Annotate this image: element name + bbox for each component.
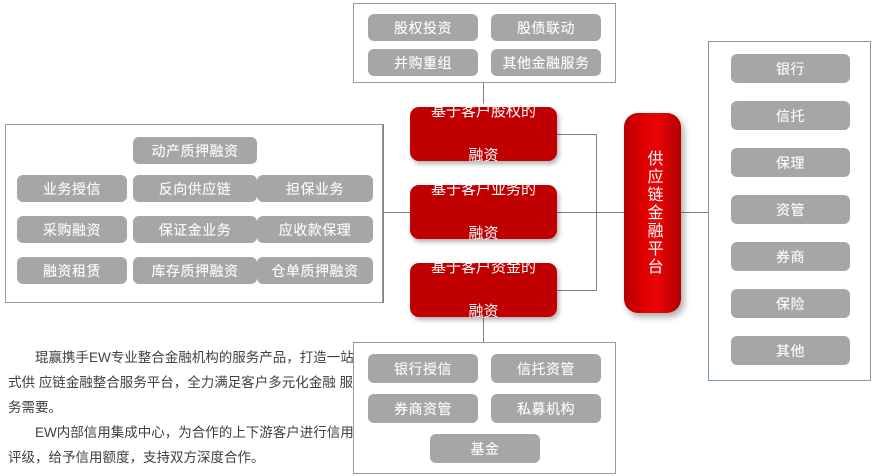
chip-label: 仓单质押融资 [272,261,359,281]
chip-label: 银行 [776,59,805,79]
chip-receivables-factoring[interactable]: 应收款保理 [257,216,373,243]
notes-block: 琨赢携手EW专业整合金融机构的服务产品，打造一站式供 应链金融整合服务平台，全力… [8,345,356,470]
redbox-line2: 融资 [418,145,549,167]
top-panel: 股权投资 股债联动 并购重组 其他金融服务 [353,3,616,83]
redbox-line2: 融资 [418,223,549,245]
connector-left-to-redbox2 [383,212,410,213]
chip-private-equity-institutions[interactable]: 私募机构 [491,394,601,423]
connector-redbox3-right [557,290,596,291]
chip-label: 反向供应链 [159,179,232,199]
chip-procurement-financing[interactable]: 采购融资 [17,216,127,243]
chip-label: 其他金融服务 [503,53,590,73]
chip-label: 业务授信 [43,179,101,199]
left-panel: 动产质押融资 业务授信 反向供应链 担保业务 采购融资 保证金业务 应收款保理 … [5,124,383,303]
redbox-text: 基于客户业务的 融资 [410,179,557,245]
chip-bank-credit[interactable]: 银行授信 [368,354,478,383]
chip-warehouse-receipt-pledge-financing[interactable]: 仓单质押融资 [257,257,373,284]
connector-platform-to-right-panel [681,212,708,213]
chip-reverse-supply-chain[interactable]: 反向供应链 [133,175,257,202]
chip-equity-investment[interactable]: 股权投资 [368,14,478,41]
chip-label: 保证金业务 [159,220,232,240]
redbox-text: 基于客户股权的 融资 [410,101,557,167]
right-panel: 银行 信托 保理 资管 券商 保险 其他 [708,41,871,381]
chip-bank[interactable]: 银行 [731,54,850,83]
chip-guarantee-business[interactable]: 担保业务 [257,175,373,202]
chip-securities-asset-management[interactable]: 券商资管 [368,394,478,423]
chip-label: 担保业务 [286,179,344,199]
chip-asset-management[interactable]: 资管 [731,195,850,224]
chip-securities-firm[interactable]: 券商 [731,242,850,271]
chip-label: 动产质押融资 [152,141,239,161]
diagram-canvas: 股权投资 股债联动 并购重组 其他金融服务 动产质押融资 业务授信 反向供应链 … [0,0,879,476]
chip-label: 信托 [776,106,805,126]
redbox-capital-based-financing[interactable]: 基于客户资金的 融资 [410,263,557,317]
supply-chain-finance-platform[interactable]: 供应链金融平台 [624,113,681,313]
chip-label: 基金 [471,439,500,459]
chip-label: 其他 [776,341,805,361]
chip-other-institutions[interactable]: 其他 [731,336,850,365]
redbox-line2: 融资 [418,301,549,323]
chip-label: 融资租赁 [43,261,101,281]
connector-redbox2-right [557,212,596,213]
connector-bus-to-platform [596,212,624,213]
redbox-equity-based-financing[interactable]: 基于客户股权的 融资 [410,107,557,161]
chip-trust[interactable]: 信托 [731,101,850,130]
chip-equity-debt-linkage[interactable]: 股债联动 [491,14,601,41]
chip-margin-business[interactable]: 保证金业务 [133,216,257,243]
chip-finance-leasing[interactable]: 融资租赁 [17,257,127,284]
chip-label: 保险 [776,294,805,314]
redbox-business-based-financing[interactable]: 基于客户业务的 融资 [410,185,557,239]
connector-left-panel-vertical [383,124,384,303]
chip-label: 股债联动 [517,18,575,38]
bottom-panel: 银行授信 信托资管 券商资管 私募机构 基金 [353,342,616,474]
chip-label: 库存质押融资 [152,261,239,281]
platform-label: 供应链金融平台 [641,150,665,276]
chip-business-credit[interactable]: 业务授信 [17,175,127,202]
chip-label: 券商 [776,247,805,267]
redbox-line1: 基于客户股权的 [418,101,549,123]
chip-label: 私募机构 [517,399,575,419]
note-paragraph-1: 琨赢携手EW专业整合金融机构的服务产品，打造一站式供 应链金融整合服务平台，全力… [8,345,356,420]
chip-label: 信托资管 [517,359,575,379]
chip-label: 股权投资 [394,18,452,38]
connector-redbox1-right [557,134,596,135]
chip-label: 银行授信 [394,359,452,379]
chip-insurance[interactable]: 保险 [731,289,850,318]
chip-label: 券商资管 [394,399,452,419]
chip-label: 采购融资 [43,220,101,240]
note-paragraph-2: EW内部信用集成中心，为合作的上下游客户进行信用评级，给予信用额度，支持双方深度… [8,420,356,470]
chip-label: 并购重组 [394,53,452,73]
chip-label: 资管 [776,200,805,220]
chip-chattel-pledge-financing[interactable]: 动产质押融资 [133,137,257,164]
chip-other-financial-services[interactable]: 其他金融服务 [491,49,601,76]
chip-merger-restructuring[interactable]: 并购重组 [368,49,478,76]
chip-factoring[interactable]: 保理 [731,148,850,177]
chip-label: 保理 [776,153,805,173]
redbox-line1: 基于客户业务的 [418,179,549,201]
chip-trust-asset-management[interactable]: 信托资管 [491,354,601,383]
redbox-text: 基于客户资金的 融资 [410,257,557,323]
chip-label: 应收款保理 [279,220,352,240]
redbox-line1: 基于客户资金的 [418,257,549,279]
chip-inventory-pledge-financing[interactable]: 库存质押融资 [133,257,257,284]
chip-fund[interactable]: 基金 [430,434,540,463]
